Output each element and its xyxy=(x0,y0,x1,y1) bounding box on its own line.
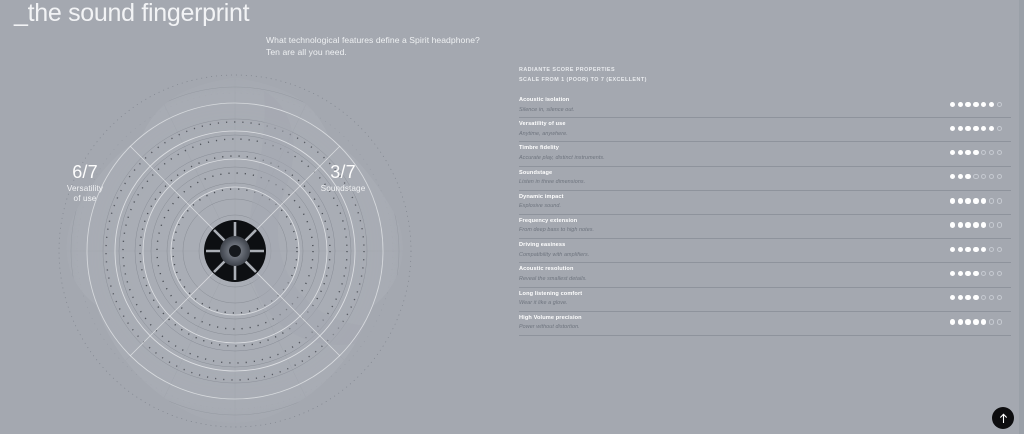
score-dot-empty xyxy=(997,247,1002,252)
score-dot-filled xyxy=(950,271,955,276)
property-score-dots xyxy=(950,198,1002,203)
property-title: Soundstage xyxy=(519,169,585,177)
property-title: Dynamic impact xyxy=(519,193,564,201)
score-dot-filled xyxy=(950,247,955,252)
property-row[interactable]: Dynamic impactExplosive sound. xyxy=(519,191,1011,215)
properties-list: Acoustic isolationSilence in, silence ou… xyxy=(519,94,1011,336)
score-dot-filled xyxy=(965,198,970,203)
score-dot-filled xyxy=(958,174,963,179)
score-dot-filled xyxy=(958,247,963,252)
score-dot-filled xyxy=(973,102,978,107)
score-dot-filled xyxy=(950,319,955,324)
score-dot-empty xyxy=(981,295,986,300)
score-dot-empty xyxy=(997,319,1002,324)
score-dot-filled xyxy=(973,295,978,300)
property-text: Timbre fidelityAccurate play, distinct i… xyxy=(519,142,605,162)
score-dot-filled xyxy=(973,150,978,155)
score-dot-filled xyxy=(973,271,978,276)
score-dot-filled xyxy=(973,319,978,324)
property-row[interactable]: Timbre fidelityAccurate play, distinct i… xyxy=(519,142,1011,166)
property-row[interactable]: Versatility of useAnytime, anywhere. xyxy=(519,118,1011,142)
score-dot-filled xyxy=(973,198,978,203)
score-dot-filled xyxy=(958,319,963,324)
score-dot-filled xyxy=(950,174,955,179)
sound-fingerprint-visualization: 6/7 Versatility of use 3/7 Soundstage 5/… xyxy=(0,55,470,434)
score-dot-filled xyxy=(965,150,970,155)
property-score-dots xyxy=(950,174,1002,179)
score-dot-empty xyxy=(981,271,986,276)
score-dot-filled xyxy=(950,150,955,155)
property-subtitle: From deep bass to high notes. xyxy=(519,226,594,234)
score-dot-empty xyxy=(989,319,994,324)
score-dot-empty xyxy=(997,222,1002,227)
score-dot-empty xyxy=(973,174,978,179)
property-row[interactable]: Acoustic resolutionReveal the smallest d… xyxy=(519,263,1011,287)
property-subtitle: Explosive sound. xyxy=(519,202,564,210)
corner-score-label: Soundstage xyxy=(297,184,389,194)
property-text: Dynamic impactExplosive sound. xyxy=(519,191,564,211)
score-dot-filled xyxy=(958,126,963,131)
property-text: Frequency extensionFrom deep bass to hig… xyxy=(519,215,594,235)
panel-subheading: SCALE FROM 1 (POOR) TO 7 (EXCELLENT) xyxy=(519,76,1011,86)
panel-heading: RADIANTE SCORE PROPERTIES xyxy=(519,66,1011,76)
score-dot-filled xyxy=(950,222,955,227)
score-dot-filled xyxy=(973,222,978,227)
page-title: _the sound fingerprint xyxy=(14,0,249,28)
score-dot-filled xyxy=(950,102,955,107)
property-title: Acoustic isolation xyxy=(519,96,575,104)
property-subtitle: Wear it like a glove. xyxy=(519,299,582,307)
property-subtitle: Reveal the smallest details. xyxy=(519,275,587,283)
page-edge-strip xyxy=(1019,0,1024,434)
score-dot-empty xyxy=(989,198,994,203)
property-title: High Volume precision xyxy=(519,314,582,322)
score-dot-empty xyxy=(981,150,986,155)
arrow-up-icon xyxy=(999,413,1008,424)
property-title: Versatility of use xyxy=(519,120,568,128)
core-starburst xyxy=(206,222,264,280)
score-dot-filled xyxy=(981,102,986,107)
corner-score-value: 6/7 xyxy=(39,162,131,183)
score-dot-filled xyxy=(989,126,994,131)
score-dot-filled xyxy=(958,222,963,227)
score-dot-filled xyxy=(981,319,986,324)
score-dot-empty xyxy=(997,174,1002,179)
property-title: Frequency extension xyxy=(519,217,594,225)
property-subtitle: Silence in, silence out. xyxy=(519,106,575,114)
property-score-dots xyxy=(950,295,1002,300)
score-dot-filled xyxy=(981,247,986,252)
property-subtitle: Accurate play, distinct instruments. xyxy=(519,154,605,162)
corner-label-line1: Versatility xyxy=(67,184,103,193)
property-score-dots xyxy=(950,319,1002,324)
score-dot-empty xyxy=(997,271,1002,276)
score-dot-empty xyxy=(989,150,994,155)
property-title: Long listening comfort xyxy=(519,290,582,298)
property-row[interactable]: Driving easinessCompatibility with ampli… xyxy=(519,239,1011,263)
score-dot-filled xyxy=(965,295,970,300)
score-dot-filled xyxy=(981,198,986,203)
score-dot-empty xyxy=(997,102,1002,107)
score-dot-filled xyxy=(965,222,970,227)
corner-label-line1: Soundstage xyxy=(321,184,366,193)
property-text: Driving easinessCompatibility with ampli… xyxy=(519,239,589,259)
property-row[interactable]: Long listening comfortWear it like a glo… xyxy=(519,288,1011,312)
property-text: Versatility of useAnytime, anywhere. xyxy=(519,118,568,138)
property-subtitle: Listen in three dimensions. xyxy=(519,178,585,186)
property-score-dots xyxy=(950,150,1002,155)
score-dot-filled xyxy=(973,247,978,252)
score-dot-filled xyxy=(950,126,955,131)
score-dot-filled xyxy=(958,271,963,276)
intro-line-1: What technological features define a Spi… xyxy=(266,35,480,47)
score-dot-filled xyxy=(989,102,994,107)
score-dot-filled xyxy=(973,126,978,131)
score-dot-empty xyxy=(997,126,1002,131)
corner-score-soundstage: 3/7 Soundstage xyxy=(297,162,389,194)
score-dot-filled xyxy=(965,102,970,107)
score-dot-filled xyxy=(958,295,963,300)
property-row[interactable]: Frequency extensionFrom deep bass to hig… xyxy=(519,215,1011,239)
property-text: SoundstageListen in three dimensions. xyxy=(519,167,585,187)
property-score-dots xyxy=(950,126,1002,131)
property-title: Driving easiness xyxy=(519,241,589,249)
radar-svg xyxy=(0,55,470,434)
score-properties-panel: RADIANTE SCORE PROPERTIES SCALE FROM 1 (… xyxy=(519,66,1011,336)
score-dot-filled xyxy=(965,271,970,276)
score-dot-empty xyxy=(989,247,994,252)
property-subtitle: Power without distortion. xyxy=(519,323,582,331)
property-score-dots xyxy=(950,247,1002,252)
property-text: High Volume precisionPower without disto… xyxy=(519,312,582,332)
corner-label-line2: of use xyxy=(74,194,97,203)
score-dot-empty xyxy=(981,174,986,179)
score-dot-empty xyxy=(989,271,994,276)
property-subtitle: Anytime, anywhere. xyxy=(519,130,568,138)
score-dot-filled xyxy=(965,126,970,131)
property-score-dots xyxy=(950,102,1002,107)
property-title: Acoustic resolution xyxy=(519,265,587,273)
corner-score-label: Versatility of use xyxy=(39,184,131,204)
property-text: Acoustic resolutionReveal the smallest d… xyxy=(519,263,587,283)
score-dot-filled xyxy=(981,222,986,227)
score-dot-filled xyxy=(958,198,963,203)
score-dot-empty xyxy=(989,295,994,300)
score-dot-filled xyxy=(965,247,970,252)
score-dot-filled xyxy=(950,198,955,203)
property-row[interactable]: Acoustic isolationSilence in, silence ou… xyxy=(519,94,1011,118)
score-dot-empty xyxy=(989,222,994,227)
corner-score-value: 3/7 xyxy=(297,162,389,183)
score-dot-empty xyxy=(997,150,1002,155)
property-score-dots xyxy=(950,222,1002,227)
score-dot-filled xyxy=(958,150,963,155)
score-dot-filled xyxy=(950,295,955,300)
score-dot-filled xyxy=(965,174,970,179)
score-dot-empty xyxy=(997,198,1002,203)
score-dot-empty xyxy=(997,295,1002,300)
property-row[interactable]: SoundstageListen in three dimensions. xyxy=(519,167,1011,191)
score-dot-filled xyxy=(958,102,963,107)
property-row[interactable]: High Volume precisionPower without disto… xyxy=(519,312,1011,336)
corner-score-versatility-of-use: 6/7 Versatility of use xyxy=(39,162,131,204)
property-text: Long listening comfortWear it like a glo… xyxy=(519,288,582,308)
property-score-dots xyxy=(950,271,1002,276)
score-dot-filled xyxy=(965,319,970,324)
property-subtitle: Compatibility with amplifiers. xyxy=(519,251,589,259)
scroll-to-top-button[interactable] xyxy=(992,407,1014,429)
property-title: Timbre fidelity xyxy=(519,144,605,152)
property-text: Acoustic isolationSilence in, silence ou… xyxy=(519,94,575,114)
score-dot-empty xyxy=(989,174,994,179)
score-dot-filled xyxy=(981,126,986,131)
